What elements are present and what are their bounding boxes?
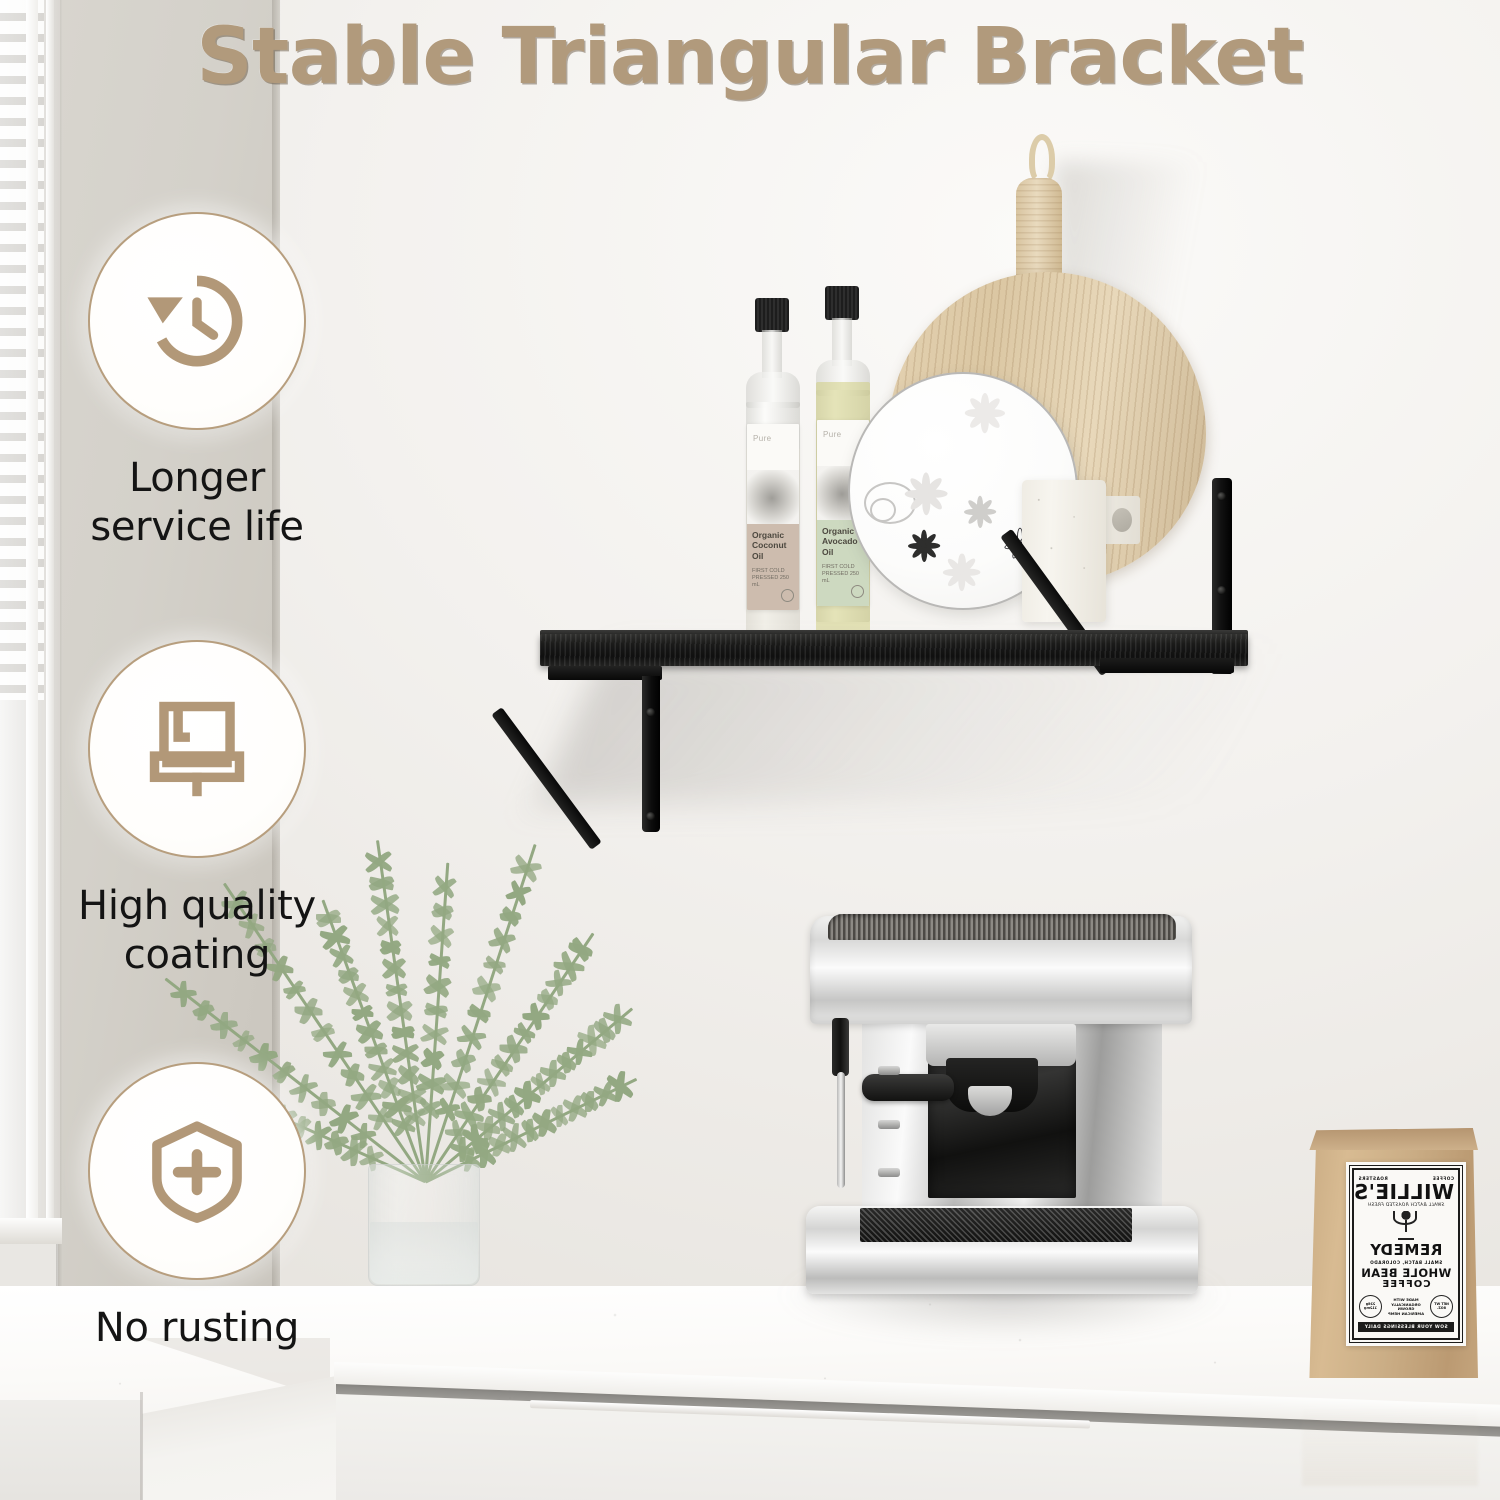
bag-footer-banner: SOW YOUR BLESSINGS DAILY xyxy=(1358,1322,1454,1332)
feature-label-line1: No rusting xyxy=(52,1304,342,1353)
feature-icon-badge xyxy=(88,640,306,858)
olive-leaf xyxy=(467,1009,490,1017)
paint-brush-icon xyxy=(138,690,256,808)
coffee-bag: COFFEE ROASTERS WILLIE'S SMALL BATCH ROA… xyxy=(1306,1128,1498,1390)
bag-seal-row: NET WT 8OZ. MADE WITH ORGANICALLY GROWN … xyxy=(1358,1295,1454,1318)
bag-tagline: SMALL BATCH ROASTED FRESH xyxy=(1358,1203,1454,1208)
olive-leaf xyxy=(349,1136,358,1166)
bracket-screw xyxy=(646,708,655,717)
olive-leaf xyxy=(499,1045,527,1054)
bottle-brand: Pure xyxy=(823,430,842,439)
espresso-cup-warming-tray xyxy=(828,914,1176,940)
coffee-bag-top-fold xyxy=(1306,1128,1478,1150)
cabinet-left-front[interactable] xyxy=(0,1400,142,1500)
cutting-board-hang-loop xyxy=(1029,134,1055,184)
feature-label: Longer service life xyxy=(52,454,342,552)
coffee-bag-label-frame: COFFEE ROASTERS WILLIE'S SMALL BATCH ROA… xyxy=(1352,1168,1460,1340)
bag-brand-name: WILLIE'S xyxy=(1358,1182,1454,1202)
feature-icon-badge xyxy=(88,1062,306,1280)
olive-leaf xyxy=(476,1121,501,1134)
feature-label: High quality coating xyxy=(52,882,342,980)
wall-shelf-assembly xyxy=(540,440,1260,860)
page-title: Stable Triangular Bracket xyxy=(0,12,1500,102)
blind-stile xyxy=(26,0,38,1230)
martini-glass-icon xyxy=(1395,1211,1417,1241)
bag-weight-seal-right: 226g 112mg xyxy=(1359,1295,1382,1318)
feature-longer-service-life: Longer service life xyxy=(52,212,342,552)
olive-leaf xyxy=(513,1027,536,1038)
bag-middle-line4: AMERICAN HEMP xyxy=(1382,1312,1430,1317)
feature-label: No rusting xyxy=(52,1304,342,1353)
bag-whole-bean-text: WHOLE BEAN xyxy=(1358,1267,1454,1279)
right-bracket-horizontal-arm xyxy=(1100,658,1234,673)
shield-plus-icon xyxy=(138,1112,256,1230)
portafilter-handle[interactable] xyxy=(862,1074,954,1101)
feature-no-rusting: No rusting xyxy=(52,1062,342,1353)
product-marketing-image: Stable Triangular Bracket Longer service… xyxy=(0,0,1500,1500)
bag-middle-text: MADE WITH ORGANICALLY GROWN AMERICAN HEM… xyxy=(1382,1295,1430,1318)
seal-right-value: 112mg xyxy=(1364,1307,1377,1311)
window-mullion xyxy=(46,0,54,1230)
olive-leaf xyxy=(476,1078,505,1087)
feature-label-line2: coating xyxy=(52,931,342,980)
espresso-machine xyxy=(800,906,1206,1326)
espresso-control-knob[interactable] xyxy=(878,1120,900,1129)
cabinet-seam xyxy=(140,1392,143,1500)
feature-label-line1: Longer xyxy=(52,454,342,503)
olive-leaf xyxy=(453,1110,484,1122)
bag-origin-text: SMALL BATCH, COLORADO xyxy=(1358,1260,1454,1265)
bottle-neck xyxy=(832,318,852,366)
espresso-drip-tray xyxy=(860,1208,1132,1242)
feature-icon-badge xyxy=(88,212,306,430)
feature-label-line2: service life xyxy=(52,503,342,552)
olive-leaf xyxy=(522,1011,549,1021)
bag-coffee-text: COFFEE xyxy=(1358,1279,1454,1290)
espresso-control-knob[interactable] xyxy=(878,1066,900,1075)
vase-water xyxy=(370,1222,478,1284)
coffee-bag-label: COFFEE ROASTERS WILLIE'S SMALL BATCH ROA… xyxy=(1346,1162,1466,1346)
olive-leaf xyxy=(220,1012,228,1039)
olive-leaf xyxy=(467,1093,492,1105)
bracket-screw xyxy=(1217,586,1226,595)
steam-wand-tube[interactable] xyxy=(837,1072,845,1188)
feature-label-line1: High quality xyxy=(52,882,342,931)
left-bracket-vertical-arm xyxy=(642,676,660,832)
steam-wand-joint xyxy=(832,1018,849,1076)
bracket-screw xyxy=(646,812,655,821)
bag-weight-seal-left: NET WT 8OZ. xyxy=(1430,1295,1453,1318)
bottle-cap xyxy=(755,298,789,332)
bottle-neck xyxy=(762,330,782,378)
bracket-screw xyxy=(1217,492,1226,501)
bottle-cap xyxy=(825,286,859,320)
feature-high-quality-coating: High quality coating xyxy=(52,640,342,980)
bag-product-remedy: REMEDY xyxy=(1358,1243,1454,1259)
olive-leaf xyxy=(536,994,558,1005)
history-clock-icon xyxy=(138,262,256,380)
daisy-motif xyxy=(970,398,1000,428)
coffee-bag-reflection xyxy=(1302,1382,1478,1486)
espresso-control-knob[interactable] xyxy=(878,1168,900,1177)
seal-left-value: 8OZ. xyxy=(1437,1307,1446,1311)
